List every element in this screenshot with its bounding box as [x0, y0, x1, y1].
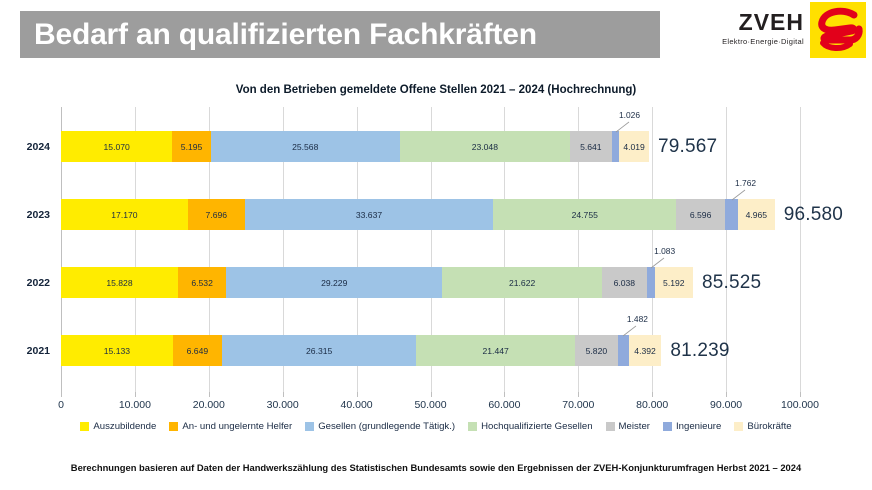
segment-callout-label: 1.026: [619, 110, 640, 120]
zveh-logo: ZVEH Elektro·Energie·Digital: [722, 2, 866, 58]
x-axis-tick-label: 30.000: [267, 399, 299, 411]
legend-label: Hochqualifizierte Gesellen: [481, 421, 592, 432]
bar-segment[interactable]: 25.568: [211, 131, 400, 162]
x-axis-tick: [357, 392, 358, 397]
y-axis-label: 2023: [27, 209, 50, 221]
x-axis-tick: [209, 392, 210, 397]
gridline: [800, 107, 801, 392]
x-axis-tick-label: 80.000: [636, 399, 668, 411]
legend-swatch-icon: [169, 422, 178, 431]
chart-legend: AuszubildendeAn- und ungelernte HelferGe…: [0, 421, 872, 432]
x-axis-tick: [431, 392, 432, 397]
bar-segment[interactable]: 15.828: [61, 267, 178, 298]
bar-segment[interactable]: 29.229: [226, 267, 442, 298]
bar-segment[interactable]: 5.820: [575, 335, 618, 366]
bar-segment[interactable]: 7.696: [188, 199, 245, 230]
x-axis-tick-label: 100.000: [781, 399, 819, 411]
legend-swatch-icon: [734, 422, 743, 431]
chart-row: 202215.8286.53229.22921.6226.0385.1921.0…: [61, 267, 800, 298]
legend-swatch-icon: [305, 422, 314, 431]
legend-item[interactable]: Ingenieure: [663, 421, 721, 432]
logo-flash-icon: [810, 2, 866, 58]
legend-item[interactable]: An- und ungelernte Helfer: [169, 421, 292, 432]
header-band: Bedarf an qualifizierten Fachkräften: [20, 11, 660, 58]
x-axis-tick: [504, 392, 505, 397]
legend-label: Bürokräfte: [747, 421, 791, 432]
legend-swatch-icon: [663, 422, 672, 431]
legend-label: Gesellen (grundlegende Tätigk.): [318, 421, 455, 432]
x-axis-tick: [283, 392, 284, 397]
bar-segment[interactable]: 24.755: [493, 199, 676, 230]
legend-item[interactable]: Gesellen (grundlegende Tätigk.): [305, 421, 455, 432]
legend-swatch-icon: [606, 422, 615, 431]
x-axis-tick-label: 70.000: [562, 399, 594, 411]
x-axis-tick-label: 10.000: [119, 399, 151, 411]
chart-row: 202115.1336.64926.31521.4475.8204.3921.4…: [61, 335, 800, 366]
segment-callout-label: 1.482: [627, 314, 648, 324]
x-axis-tick-label: 0: [58, 399, 64, 411]
stacked-bar[interactable]: 15.1336.64926.31521.4475.8204.392: [61, 335, 661, 366]
legend-swatch-icon: [468, 422, 477, 431]
page-title: Bedarf an qualifizierten Fachkräften: [20, 18, 537, 52]
x-axis-tick: [578, 392, 579, 397]
x-axis-tick-label: 20.000: [193, 399, 225, 411]
bar-total-label: 85.525: [702, 272, 761, 294]
bar-segment[interactable]: 26.315: [222, 335, 416, 366]
legend-swatch-icon: [80, 422, 89, 431]
bar-segment[interactable]: 21.447: [416, 335, 574, 366]
legend-label: Ingenieure: [676, 421, 721, 432]
bar-segment[interactable]: 33.637: [245, 199, 494, 230]
stacked-bar[interactable]: 17.1707.69633.63724.7556.5964.965: [61, 199, 775, 230]
bar-segment[interactable]: 6.038: [602, 267, 647, 298]
stacked-bar[interactable]: 15.0705.19525.56823.0485.6414.019: [61, 131, 649, 162]
bar-segment[interactable]: 21.622: [442, 267, 602, 298]
bar-segment[interactable]: 23.048: [400, 131, 570, 162]
chart-row: 202317.1707.69633.63724.7556.5964.9651.7…: [61, 199, 800, 230]
x-axis-tick: [800, 392, 801, 397]
bar-total-label: 96.580: [784, 204, 843, 226]
legend-item[interactable]: Meister: [606, 421, 650, 432]
logo-wordmark: ZVEH: [722, 11, 804, 34]
x-axis-tick: [61, 392, 62, 397]
bar-total-label: 79.567: [658, 136, 717, 158]
logo-text-block: ZVEH Elektro·Energie·Digital: [722, 2, 810, 46]
x-axis-tick: [135, 392, 136, 397]
x-axis-tick: [652, 392, 653, 397]
bar-segment[interactable]: 6.649: [173, 335, 222, 366]
legend-label: An- und ungelernte Helfer: [182, 421, 292, 432]
legend-item[interactable]: Hochqualifizierte Gesellen: [468, 421, 592, 432]
x-axis-tick-label: 90.000: [710, 399, 742, 411]
y-axis-label: 2024: [27, 141, 50, 153]
bar-segment[interactable]: 5.195: [172, 131, 210, 162]
x-axis-tick-label: 50.000: [414, 399, 446, 411]
callout-leader-line: [649, 257, 689, 277]
bar-segment[interactable]: 5.641: [570, 131, 612, 162]
legend-label: Meister: [619, 421, 650, 432]
chart-plot-area: 202415.0705.19525.56823.0485.6414.0191.0…: [61, 107, 800, 392]
legend-label: Auszubildende: [93, 421, 156, 432]
y-axis-label: 2021: [27, 345, 50, 357]
x-axis-tick-label: 60.000: [488, 399, 520, 411]
x-axis: 010.00020.00030.00040.00050.00060.00070.…: [61, 392, 800, 416]
segment-callout-label: 1.083: [654, 246, 675, 256]
bar-segment[interactable]: 6.596: [676, 199, 725, 230]
bar-segment[interactable]: 15.133: [61, 335, 173, 366]
bar-total-label: 81.239: [670, 340, 729, 362]
y-axis-label: 2022: [27, 277, 50, 289]
chart-title: Von den Betrieben gemeldete Offene Stell…: [0, 84, 872, 96]
callout-leader-line: [730, 189, 770, 209]
callout-leader-line: [614, 121, 654, 141]
x-axis-tick-label: 40.000: [341, 399, 373, 411]
bar-segment[interactable]: 6.532: [178, 267, 226, 298]
x-axis-tick: [726, 392, 727, 397]
bar-segment[interactable]: 17.170: [61, 199, 188, 230]
slide-root: Bedarf an qualifizierten Fachkräften ZVE…: [0, 0, 872, 490]
segment-callout-label: 1.762: [735, 178, 756, 188]
stacked-bar[interactable]: 15.8286.53229.22921.6226.0385.192: [61, 267, 693, 298]
bar-segment[interactable]: 15.070: [61, 131, 172, 162]
legend-item[interactable]: Auszubildende: [80, 421, 156, 432]
legend-item[interactable]: Bürokräfte: [734, 421, 791, 432]
source-note: Berechnungen basieren auf Daten der Hand…: [0, 462, 872, 473]
chart-row: 202415.0705.19525.56823.0485.6414.0191.0…: [61, 131, 800, 162]
logo-tagline: Elektro·Energie·Digital: [722, 37, 804, 46]
callout-leader-line: [621, 325, 661, 345]
